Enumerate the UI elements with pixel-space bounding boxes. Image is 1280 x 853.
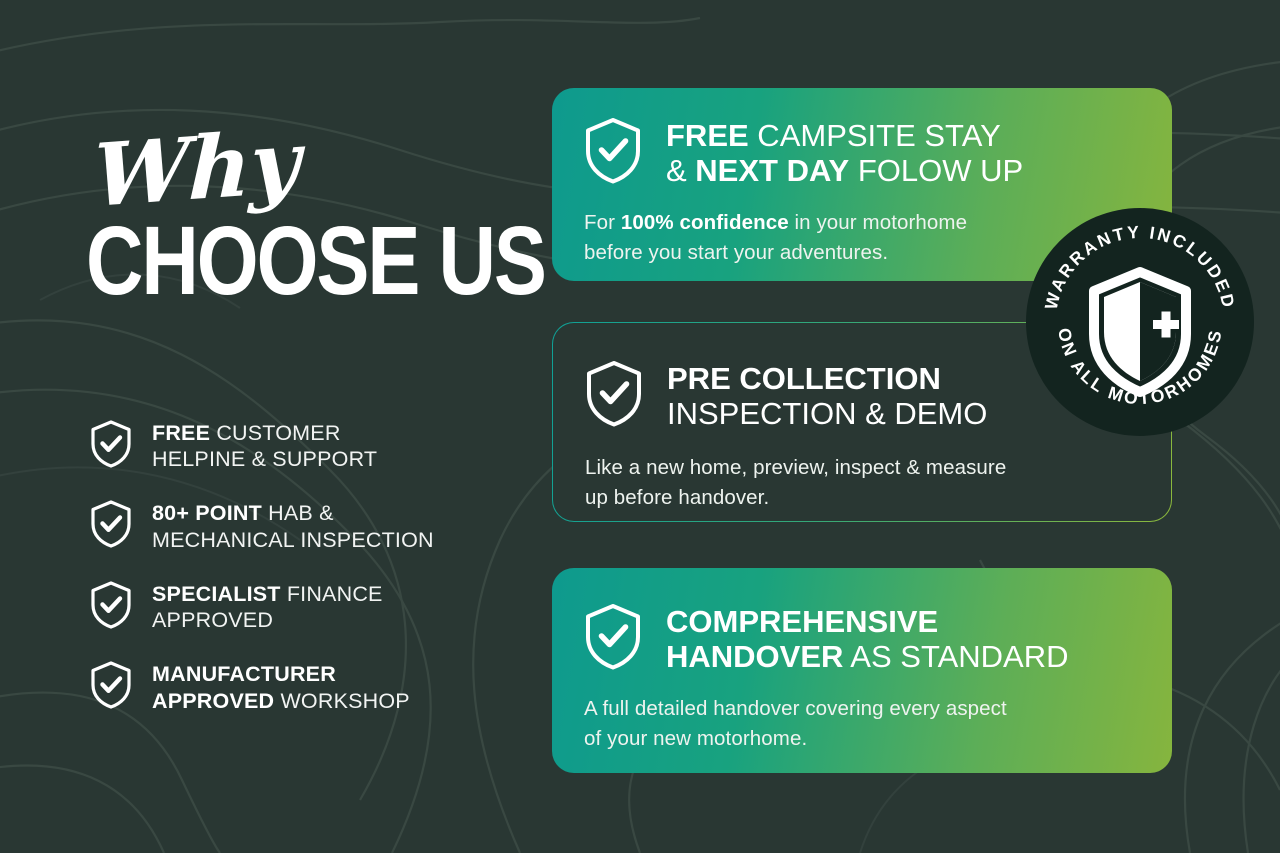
- card-title-reg-2a: &: [666, 153, 695, 188]
- list-item-line2: HELPINE & SUPPORT: [152, 447, 377, 471]
- card-title: FREE CAMPSITE STAY & NEXT DAY FOLOW UP: [666, 114, 1023, 188]
- list-item-label: 80+ POINT HAB & MECHANICAL INSPECTION: [152, 498, 434, 552]
- list-item: MANUFACTURER APPROVED WORKSHOP: [88, 659, 508, 713]
- list-item: SPECIALIST FINANCE APPROVED: [88, 579, 508, 633]
- card-title-bold-2: HANDOVER: [666, 639, 843, 674]
- card-title: COMPREHENSIVE HANDOVER AS STANDARD: [666, 600, 1069, 674]
- card-body: Like a new home, preview, inspect & meas…: [585, 453, 1137, 511]
- list-item-line2-bold: APPROVED: [152, 689, 274, 713]
- shield-check-icon: [88, 580, 134, 630]
- shield-check-icon: [583, 359, 645, 429]
- list-item-bold: SPECIALIST: [152, 582, 281, 606]
- list-item-rest: CUSTOMER: [210, 421, 340, 445]
- headline-main-text: CHOOSE US: [86, 218, 439, 303]
- card-title-reg-2b: AS STANDARD: [843, 639, 1068, 674]
- card-body-line2: up before handover.: [585, 486, 769, 509]
- shield-check-icon: [88, 660, 134, 710]
- list-item: FREE CUSTOMER HELPINE & SUPPORT: [88, 418, 508, 472]
- card-body-pre: For: [584, 211, 621, 234]
- card-body-post: Like a new home, preview, inspect & meas…: [585, 456, 1006, 479]
- card-title-reg-1: CAMPSITE STAY: [749, 118, 1001, 153]
- list-item-rest: FINANCE: [281, 582, 383, 606]
- shield-check-icon: [88, 499, 134, 549]
- card-title-reg-2b: INSPECTION & DEMO: [667, 396, 987, 431]
- list-item-label: SPECIALIST FINANCE APPROVED: [152, 579, 383, 633]
- card-body-line2: before you start your adventures.: [584, 241, 888, 264]
- card-body-line2: of your new motorhome.: [584, 727, 807, 750]
- list-item-bold: FREE: [152, 421, 210, 445]
- card-title-bold-1: COMPREHENSIVE: [666, 604, 938, 639]
- card-body-bold: 100% confidence: [621, 211, 789, 234]
- list-item-bold: MANUFACTURER: [152, 662, 336, 686]
- card-title-bold-1: FREE: [666, 118, 749, 153]
- left-column: Why CHOOSE US FREE CUSTOMER HELPINE & SU…: [0, 0, 540, 853]
- shield-check-icon: [582, 116, 644, 186]
- shield-check-icon: [582, 602, 644, 672]
- card-title-bold-2: NEXT DAY: [695, 153, 849, 188]
- benefit-card-comprehensive-handover[interactable]: COMPREHENSIVE HANDOVER AS STANDARD A ful…: [552, 568, 1172, 773]
- card-title: PRE COLLECTION INSPECTION & DEMO: [667, 357, 987, 431]
- list-item-line2: MECHANICAL INSPECTION: [152, 528, 434, 552]
- page-title: Why CHOOSE US: [86, 140, 516, 303]
- shield-check-icon: [88, 419, 134, 469]
- list-item-line2: APPROVED: [152, 608, 273, 632]
- list-item-label: FREE CUSTOMER HELPINE & SUPPORT: [152, 418, 377, 472]
- card-body: A full detailed handover covering every …: [584, 694, 1138, 752]
- list-item: 80+ POINT HAB & MECHANICAL INSPECTION: [88, 498, 508, 552]
- card-title-reg-2b: FOLOW UP: [849, 153, 1023, 188]
- card-body-post: in your motorhome: [789, 211, 967, 234]
- benefits-list: FREE CUSTOMER HELPINE & SUPPORT 80+ POIN…: [88, 418, 508, 714]
- warranty-badge: WARRANTY INCLUDED ON ALL MOTORHOMES: [1026, 208, 1254, 436]
- card-body-post: A full detailed handover covering every …: [584, 697, 1007, 720]
- list-item-rest: HAB &: [262, 501, 334, 525]
- list-item-bold: 80+ POINT: [152, 501, 262, 525]
- shield-plus-icon: [1094, 272, 1186, 392]
- list-item-label: MANUFACTURER APPROVED WORKSHOP: [152, 659, 410, 713]
- headline-script-word: Why: [92, 110, 518, 214]
- list-item-line2: WORKSHOP: [274, 689, 410, 713]
- card-title-bold-1: PRE COLLECTION: [667, 361, 941, 396]
